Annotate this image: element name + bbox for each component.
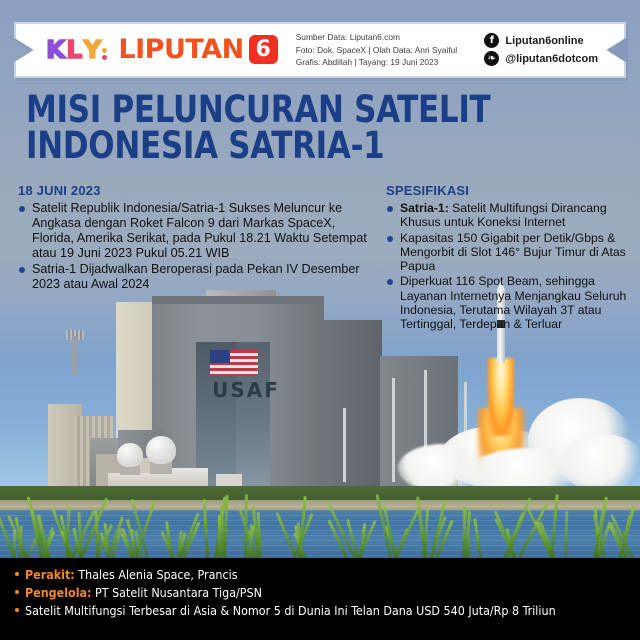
us-flag-icon — [210, 350, 258, 376]
reed-blade — [203, 499, 209, 558]
liputan-six-badge: 6 — [249, 35, 278, 64]
pad-pole-1 — [392, 378, 395, 482]
list-item: Satelit Multifungsi Terbesar di Asia & N… — [14, 602, 626, 620]
radome-b — [146, 436, 176, 464]
spec-lead: Satria-1: — [400, 201, 449, 215]
rocket-flame — [488, 358, 514, 436]
lightning-tower — [72, 336, 77, 376]
right-column-list: Satria-1: Satelit Multifungsi Dirancang … — [386, 201, 630, 331]
footer-list: Perakit: Thales Alenia Space, Prancis Pe… — [14, 566, 626, 620]
footer-bar: Perakit: Thales Alenia Space, Prancis Pe… — [0, 558, 640, 640]
spec-text: Diperkuat 116 Spot Beam, sehingga Layana… — [400, 274, 626, 331]
radome-a — [117, 443, 143, 467]
foreground-reeds — [0, 490, 640, 558]
source-line-1: Sumber Data: Liputan6.com — [296, 31, 457, 44]
left-column-heading: 18 JUNI 2023 — [18, 183, 373, 198]
reed-blade — [13, 529, 16, 558]
list-item: Perakit: Thales Alenia Space, Prancis — [14, 566, 626, 584]
social-twitter[interactable]: ❧ @liputan6dotcom — [484, 51, 598, 66]
title-line-2: INDONESIA SATRIA-1 — [26, 128, 584, 164]
facebook-icon: f — [484, 33, 499, 48]
facebook-handle: Liputan6online — [505, 35, 583, 47]
list-item: Diperkuat 116 Spot Beam, sehingga Layana… — [386, 274, 630, 331]
footer-label: Pengelola: — [25, 585, 92, 600]
reed-blade — [394, 508, 420, 558]
right-column: SPESIFIKASI Satria-1: Satelit Multifungs… — [386, 183, 630, 332]
left-column: 18 JUNI 2023 Satelit Republik Indonesia/… — [18, 183, 373, 293]
kly-dots-icon — [102, 42, 111, 62]
left-column-list: Satelit Republik Indonesia/Satria-1 Suks… — [18, 201, 373, 292]
social-links: f Liputan6online ❧ @liputan6dotcom — [484, 33, 598, 66]
list-item: Kapasitas 150 Gigabit per Detik/Gbps & M… — [386, 231, 630, 274]
building-right-wing — [324, 320, 382, 492]
pad-pole-5 — [343, 408, 346, 482]
header-ribbon: KLY LIPUTAN 6 Sumber Data: Liputan6.com … — [14, 22, 626, 78]
footer-text: PT Satelit Nusantara Tiga/PSN — [92, 585, 262, 600]
list-item: Pengelola: PT Satelit Nusantara Tiga/PSN — [14, 584, 626, 602]
reed-blade — [218, 515, 221, 558]
flag-canton — [210, 350, 230, 363]
kly-logo: KLY — [46, 37, 111, 62]
source-line-3: Grafis: Abdillah | Tayang: 19 Juni 2023 — [296, 56, 457, 69]
page-title: MISI PELUNCURAN SATELIT INDONESIA SATRIA… — [26, 92, 584, 165]
list-item: Satria-1 Dijadwalkan Beroperasi pada Pek… — [18, 262, 373, 292]
reed-blade — [473, 518, 482, 558]
source-credits: Sumber Data: Liputan6.com Foto: Dok. Spa… — [296, 31, 457, 69]
list-item: Satria-1: Satelit Multifungsi Dirancang … — [386, 201, 630, 230]
source-line-2: Foto: Dok. SpaceX | Olah Data: Anri Syai… — [296, 44, 457, 57]
list-item: Satelit Republik Indonesia/Satria-1 Suks… — [18, 201, 373, 261]
reed-blade — [462, 506, 465, 558]
reed-blade — [244, 494, 248, 558]
twitter-icon: ❧ — [484, 51, 499, 66]
footer-text: Satelit Multifungsi Terbesar di Asia & N… — [25, 603, 556, 618]
title-line-1: MISI PELUNCURAN SATELIT — [26, 92, 584, 128]
reed-blade — [564, 511, 568, 558]
liputan-wordmark: LIPUTAN — [118, 36, 243, 63]
footer-label: Perakit: — [25, 567, 75, 582]
social-facebook[interactable]: f Liputan6online — [484, 33, 598, 48]
footer-text: Thales Alenia Space, Prancis — [75, 567, 238, 582]
spec-text: Kapasitas 150 Gigabit per Detik/Gbps & M… — [400, 231, 626, 274]
right-column-heading: SPESIFIKASI — [386, 183, 630, 198]
usaf-building-text: USAF — [206, 378, 286, 402]
infographic-page: KLY LIPUTAN 6 Sumber Data: Liputan6.com … — [0, 0, 640, 640]
twitter-handle: @liputan6dotcom — [505, 53, 598, 65]
